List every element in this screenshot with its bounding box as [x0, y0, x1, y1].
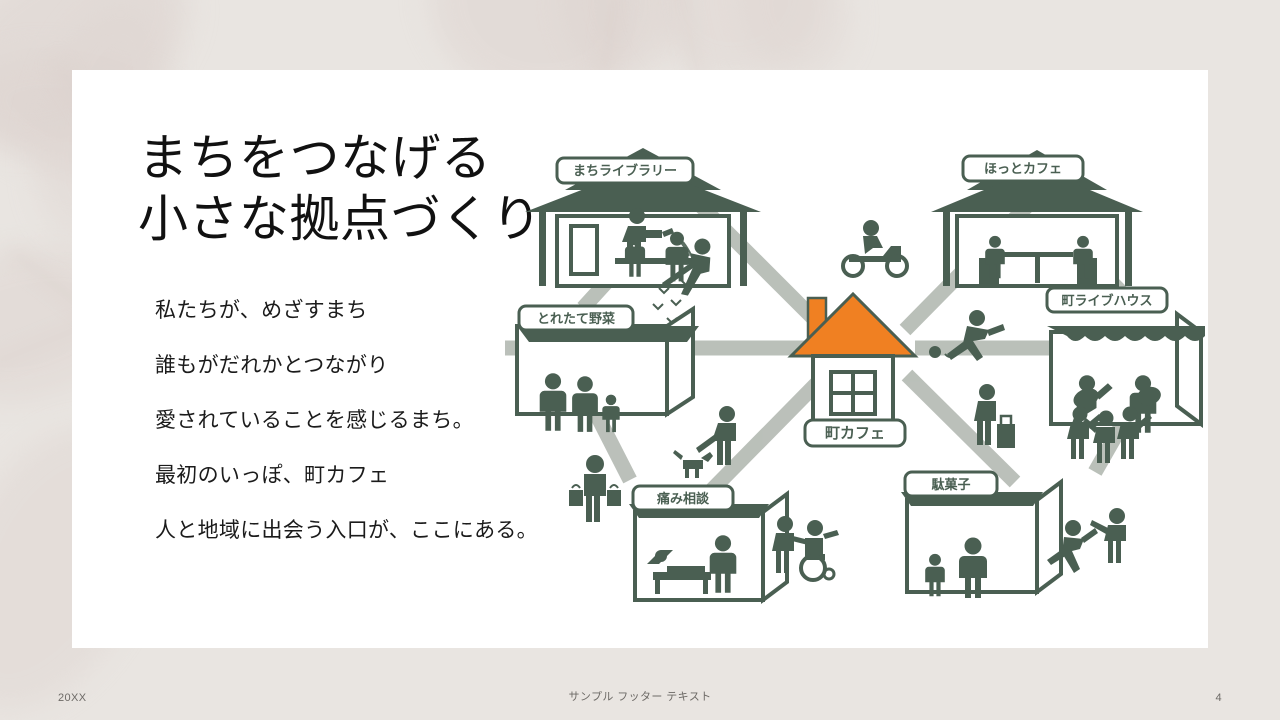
diagram-label-library: まちライブラリー	[573, 163, 677, 178]
figure-dog-walker	[696, 406, 736, 465]
building-hot-cafe: ほっとカフェ	[931, 150, 1143, 286]
figure-dancer-b	[1090, 508, 1126, 563]
building-town-cafe: 町カフェ	[791, 294, 915, 446]
diagram-label-town-cafe: 町カフェ	[825, 425, 885, 442]
diagram-label-pain-clinic: 痛み相談	[656, 491, 710, 506]
figure-scooter	[843, 220, 907, 276]
building-sweets: 駄菓子	[901, 472, 1061, 598]
slide: まちをつなげる 小さな拠点づくり 私たちが、めざすまち 誰もがだれかとつながり …	[0, 0, 1280, 720]
community-hub-diagram: まちライブラリー ほっとカフェ	[495, 120, 1205, 620]
building-vegetables: とれたて野菜	[517, 306, 699, 432]
dog-icon	[673, 450, 713, 478]
footer-text: サンプル フッター テキスト	[0, 688, 1280, 704]
diagram-label-vegetables: とれたて野菜	[537, 311, 615, 326]
figure-wheelchair	[801, 520, 839, 580]
building-pain-clinic: 痛み相談	[629, 486, 787, 600]
diagram-label-sweets: 駄菓子	[931, 477, 970, 492]
diagram-label-live-house: 町ライブハウス	[1061, 293, 1152, 308]
figure-shopper	[569, 455, 621, 522]
footer-page-number: 4	[1215, 692, 1222, 704]
figure-traveler	[974, 384, 1015, 448]
diagram-label-hot-cafe: ほっとカフェ	[984, 161, 1062, 176]
ball-icon	[929, 346, 941, 358]
